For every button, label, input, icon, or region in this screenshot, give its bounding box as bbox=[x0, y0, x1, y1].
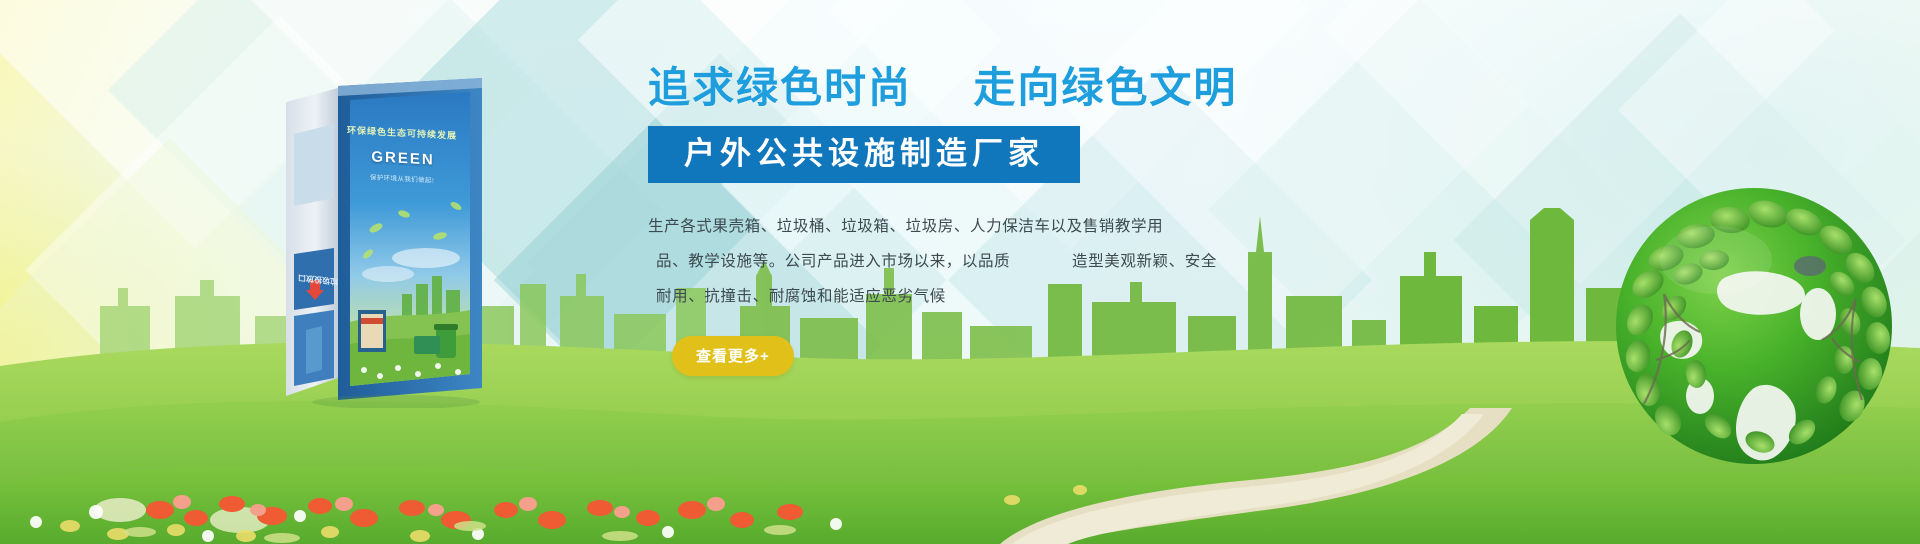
subtitle-bar: 户外公共设施制造厂家 bbox=[648, 126, 1080, 183]
paragraph-line-2b: 造型美观新颖、安全 bbox=[1072, 253, 1217, 270]
headline-left: 追求绿色时尚 bbox=[648, 64, 912, 111]
paragraph-line-2: 品、教学设施等。公司产品进入市场以来，以品质 造型美观新颖、安全 bbox=[648, 244, 1348, 279]
view-more-button[interactable]: 查看更多+ bbox=[672, 336, 794, 376]
paragraph-line-1: 生产各式果壳箱、垃圾桶、垃圾箱、垃圾房、人力保洁车以及售销教学用 bbox=[648, 209, 1348, 244]
headline-right: 走向绿色文明 bbox=[973, 64, 1237, 111]
outdoor-kiosk-icon: 环保绿色生态可持续发展 GREEN 保护环境从我们做起! 垃圾投放口 bbox=[276, 78, 492, 408]
paragraph-line-3: 耐用、抗撞击、耐腐蚀和能适应恶劣气候 bbox=[648, 279, 1348, 314]
green-globe-icon bbox=[1604, 174, 1904, 474]
description-paragraph: 生产各式果壳箱、垃圾桶、垃圾箱、垃圾房、人力保洁车以及售销教学用 品、教学设施等… bbox=[648, 209, 1348, 314]
banner-content: 追求绿色时尚 走向绿色文明 户外公共设施制造厂家 生产各式果壳箱、垃圾桶、垃圾箱… bbox=[648, 64, 1468, 376]
paragraph-line-2a: 品、教学设施等。公司产品进入市场以来，以品质 bbox=[656, 253, 1010, 270]
page-title: 追求绿色时尚 走向绿色文明 bbox=[648, 64, 1468, 112]
hero-banner: 环保绿色生态可持续发展 GREEN 保护环境从我们做起! 垃圾投放口 追求绿色时… bbox=[0, 0, 1920, 544]
